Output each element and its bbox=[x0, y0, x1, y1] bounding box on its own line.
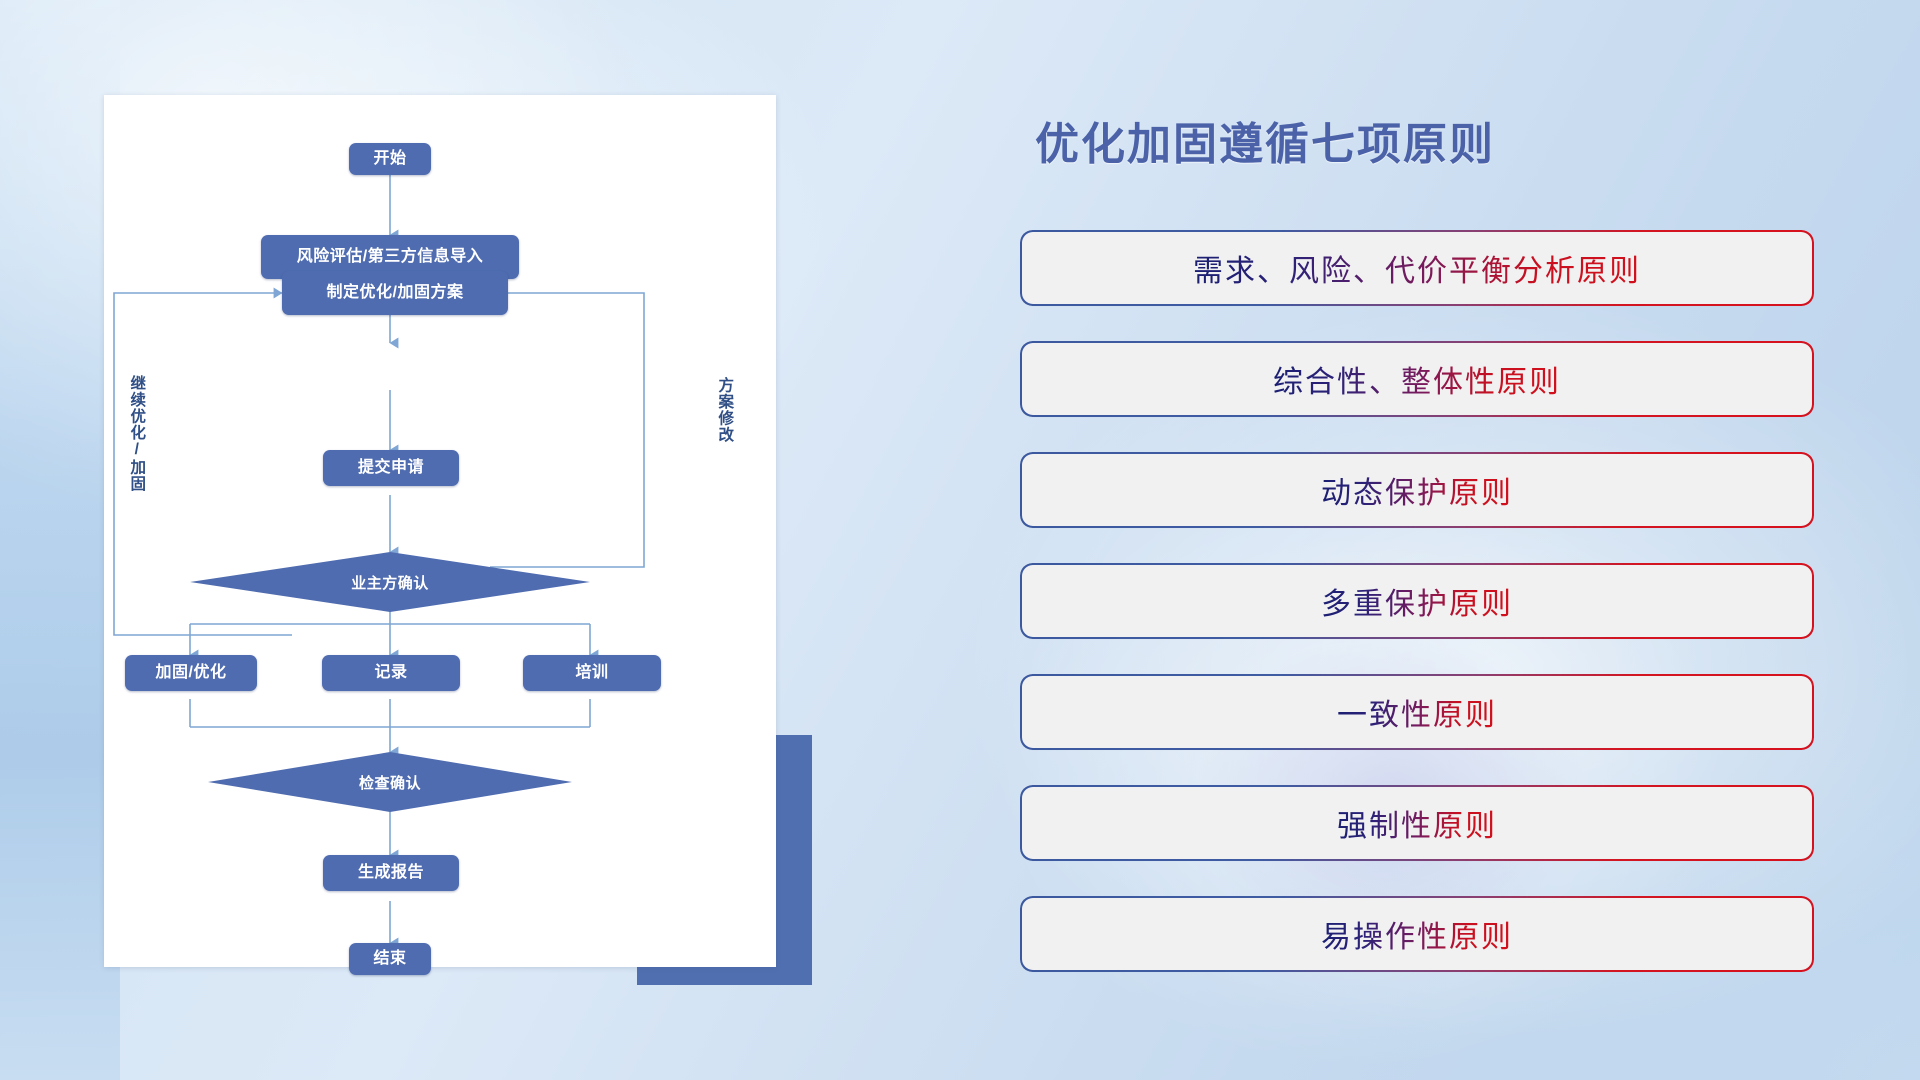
flow-node-record-label: 记录 bbox=[374, 665, 407, 681]
flow-node-plan[interactable]: 制定优化/加固方案 bbox=[282, 271, 508, 315]
flowchart-connectors bbox=[104, 95, 776, 967]
flow-edge-label-left: 继续优化/加固 bbox=[128, 375, 144, 492]
principle-label-5: 一致性原则 bbox=[1337, 690, 1497, 734]
principle-label-7: 易操作性原则 bbox=[1321, 912, 1513, 956]
flow-node-start[interactable]: 开始 bbox=[349, 143, 431, 175]
slide-root: 开始 风险评估/第三方信息导入 制定优化/加固方案 提交申请 业主方确认 加固/… bbox=[0, 0, 1920, 1080]
principles-title: 优化加固遵循七项原则 bbox=[1035, 108, 1495, 172]
background-left-band bbox=[0, 0, 120, 1080]
principle-card-4[interactable]: 多重保护原则 bbox=[1022, 565, 1812, 637]
principle-card-7[interactable]: 易操作性原则 bbox=[1022, 898, 1812, 970]
principle-card-1[interactable]: 需求、风险、代价平衡分析原则 bbox=[1022, 232, 1812, 304]
flow-node-generate-report[interactable]: 生成报告 bbox=[323, 855, 459, 891]
flow-node-start-label: 开始 bbox=[373, 151, 406, 167]
principle-card-5[interactable]: 一致性原则 bbox=[1022, 676, 1812, 748]
principle-card-2[interactable]: 综合性、整体性原则 bbox=[1022, 343, 1812, 415]
flowchart-panel: 开始 风险评估/第三方信息导入 制定优化/加固方案 提交申请 业主方确认 加固/… bbox=[104, 95, 776, 967]
flow-node-end-label: 结束 bbox=[373, 951, 406, 967]
flow-node-generate-report-label: 生成报告 bbox=[358, 865, 424, 881]
principle-card-6[interactable]: 强制性原则 bbox=[1022, 787, 1812, 859]
flow-node-training[interactable]: 培训 bbox=[523, 655, 661, 691]
flow-node-record[interactable]: 记录 bbox=[322, 655, 460, 691]
flow-node-training-label: 培训 bbox=[575, 665, 608, 681]
flow-node-submit-application[interactable]: 提交申请 bbox=[323, 450, 459, 486]
principle-label-6: 强制性原则 bbox=[1337, 801, 1497, 845]
principles-list: 需求、风险、代价平衡分析原则 综合性、整体性原则 动态保护原则 多重保护原则 一… bbox=[1022, 232, 1812, 1009]
principle-label-2: 综合性、整体性原则 bbox=[1273, 357, 1561, 401]
decision-owner-confirm[interactable] bbox=[190, 552, 590, 612]
flow-node-reinforce-optimize[interactable]: 加固/优化 bbox=[125, 655, 257, 691]
flow-node-risk-assessment-label: 风险评估/第三方信息导入 bbox=[297, 249, 483, 265]
principle-label-1: 需求、风险、代价平衡分析原则 bbox=[1193, 246, 1641, 290]
flow-node-reinforce-optimize-label: 加固/优化 bbox=[156, 665, 227, 681]
flow-node-submit-application-label: 提交申请 bbox=[358, 460, 424, 476]
principle-label-4: 多重保护原则 bbox=[1321, 579, 1513, 623]
principle-card-3[interactable]: 动态保护原则 bbox=[1022, 454, 1812, 526]
decision-check-confirm[interactable] bbox=[208, 752, 572, 812]
flow-node-plan-label: 制定优化/加固方案 bbox=[327, 285, 464, 301]
flow-node-end[interactable]: 结束 bbox=[349, 943, 431, 975]
flow-edge-label-right: 方案修改 bbox=[716, 377, 732, 443]
principle-label-3: 动态保护原则 bbox=[1321, 468, 1513, 512]
